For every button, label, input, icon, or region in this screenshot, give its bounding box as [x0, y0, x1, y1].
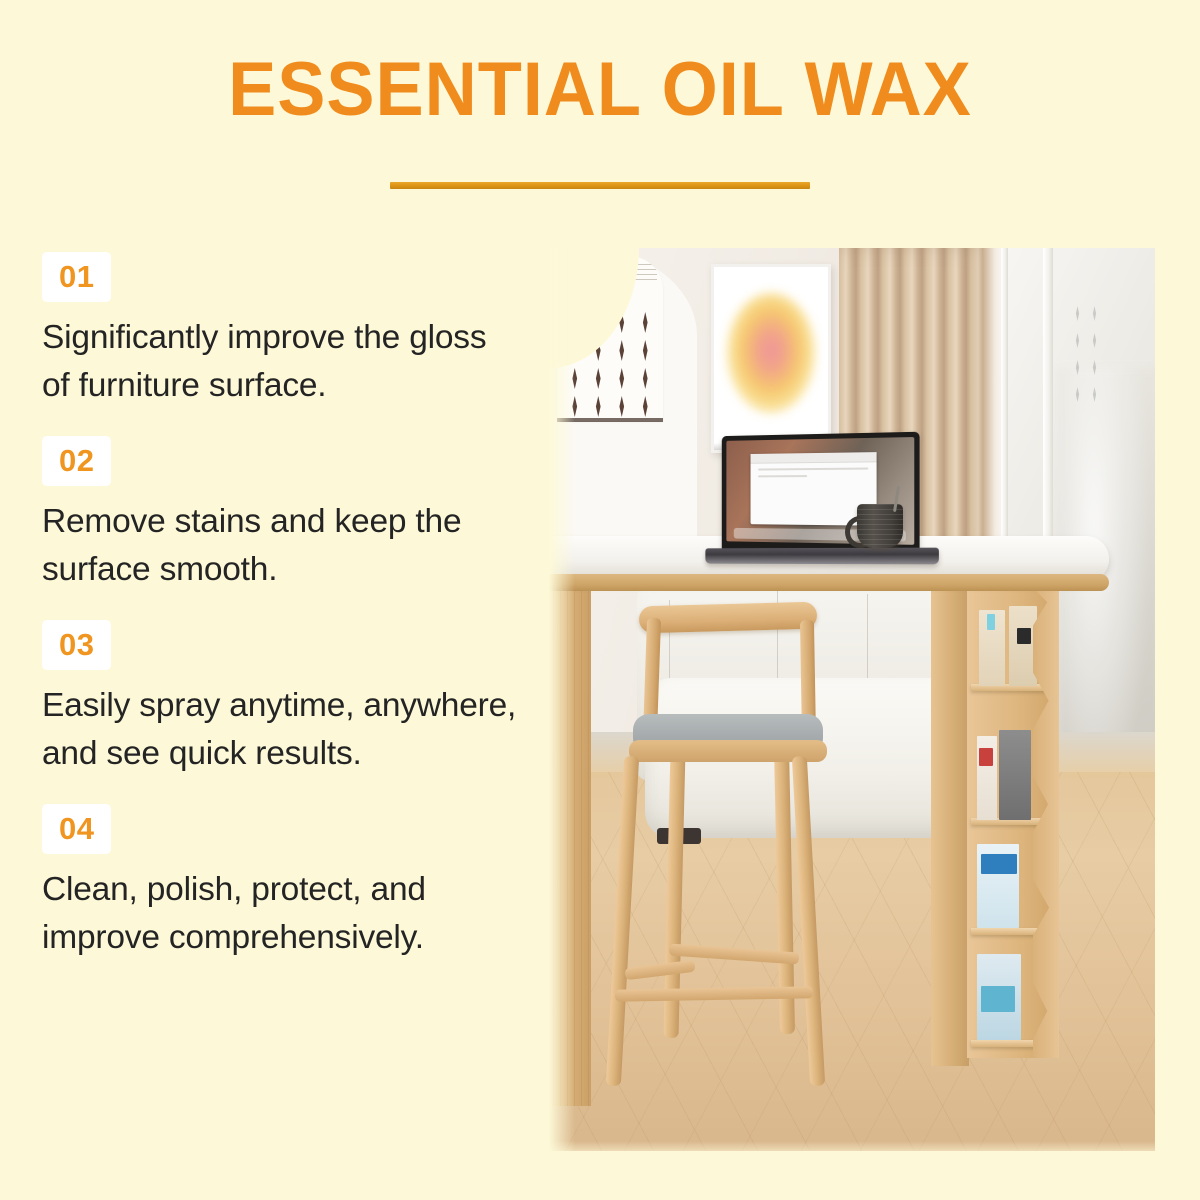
feature-item: 01 Significantly improve the gloss of fu…	[42, 252, 532, 410]
page-title: ESSENTIAL OIL WAX	[30, 47, 1170, 133]
diamond-icon	[592, 368, 605, 389]
diamond-icon	[1073, 360, 1082, 375]
rack-book-label	[979, 748, 993, 766]
table-edge	[549, 574, 1109, 591]
title-divider	[390, 182, 810, 189]
diamond-icon	[639, 312, 652, 333]
diamond-icon	[615, 312, 628, 333]
poster-text-lines	[609, 264, 657, 284]
poster-bottom-rail	[557, 418, 663, 422]
photo-scene	[549, 248, 1155, 1151]
feature-list: 01 Significantly improve the gloss of fu…	[42, 252, 532, 972]
feature-item: 02 Remove stains and keep the surface sm…	[42, 436, 532, 594]
diamond-icon	[615, 340, 628, 361]
feature-number-badge: 01	[42, 252, 111, 302]
stool-backrest	[639, 602, 818, 634]
diamond-icon	[1073, 333, 1082, 348]
table-leg	[931, 586, 969, 1066]
rack-magazine-label	[1017, 628, 1031, 644]
laptop-keyboard-base	[705, 548, 939, 565]
diamond-icon	[568, 340, 581, 361]
feature-item: 04 Clean, polish, protect, and improve c…	[42, 804, 532, 962]
diamond-icon	[592, 396, 605, 417]
laptop-window-textline	[758, 468, 868, 471]
diamond-icon	[1090, 360, 1099, 375]
window-diamond-decals	[1069, 306, 1103, 402]
diamond-icon	[592, 340, 605, 361]
table-side-panel	[549, 586, 591, 1106]
diamond-icon	[568, 312, 581, 333]
feature-description: Remove stains and keep the surface smoot…	[42, 498, 522, 594]
rack-book	[999, 730, 1031, 820]
rack-magazine-photo	[981, 986, 1015, 1012]
diamond-icon	[615, 396, 628, 417]
feature-description: Easily spray anytime, anywhere, and see …	[42, 682, 522, 778]
diamond-icon	[639, 340, 652, 361]
diamond-icon	[639, 368, 652, 389]
feature-item: 03 Easily spray anytime, anywhere, and s…	[42, 620, 532, 778]
aura-gradient	[727, 293, 815, 413]
feature-number-badge: 04	[42, 804, 111, 854]
poster-diamond-grid	[563, 312, 657, 417]
rack-magazine	[1009, 606, 1037, 686]
diamond-icon	[568, 396, 581, 417]
product-lifestyle-photo	[549, 248, 1155, 1151]
diamond-pattern-poster	[557, 256, 663, 421]
rack-magazine-sticker	[987, 614, 995, 630]
header: ESSENTIAL OIL WAX	[0, 0, 1200, 210]
magazine-rack	[967, 588, 1059, 1058]
laptop-window-titlebar	[751, 452, 877, 464]
diamond-icon	[1073, 306, 1082, 321]
feature-description: Clean, polish, protect, and improve comp…	[42, 866, 522, 962]
diamond-icon	[1090, 387, 1099, 402]
diamond-icon	[1090, 333, 1099, 348]
diamond-icon	[639, 396, 652, 417]
rack-magazine-title	[981, 854, 1017, 874]
gradient-aura-framed-poster	[711, 264, 831, 453]
laptop-window-textline	[758, 475, 807, 477]
feature-number-badge: 02	[42, 436, 111, 486]
diamond-icon	[568, 368, 581, 389]
diamond-icon	[1073, 387, 1082, 402]
feature-description: Significantly improve the gloss of furni…	[42, 314, 522, 410]
diamond-icon	[1090, 306, 1099, 321]
diamond-icon	[592, 312, 605, 333]
diamond-icon	[615, 368, 628, 389]
feature-number-badge: 03	[42, 620, 111, 670]
